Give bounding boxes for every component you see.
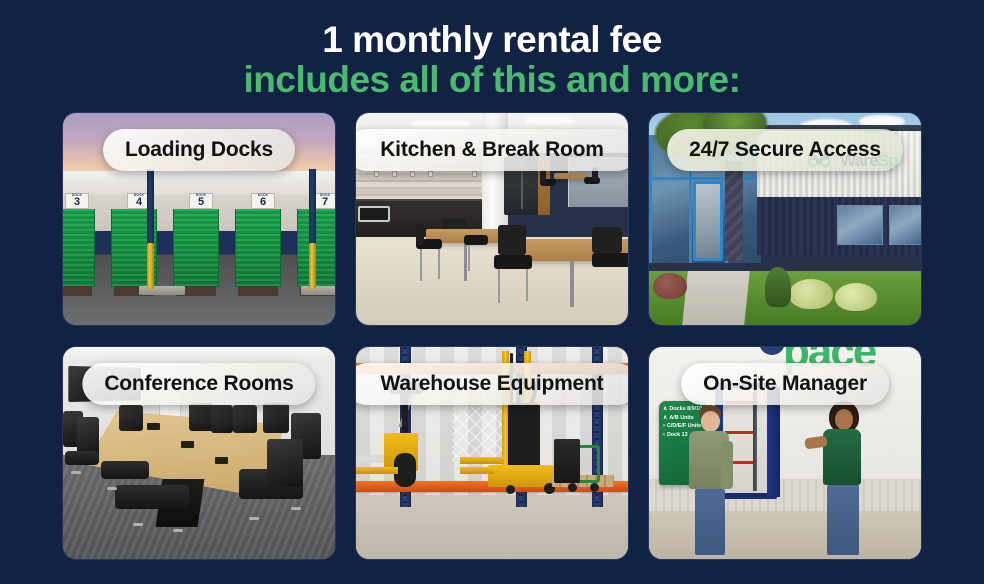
- wall-outlet: [472, 171, 477, 177]
- curb: [301, 286, 335, 295]
- chair-seat: [115, 485, 189, 509]
- wall-outlet: [374, 171, 379, 177]
- chair-leg: [526, 269, 528, 301]
- wayfinding-arrow: ∧: [663, 415, 667, 421]
- dock-door: [235, 209, 281, 287]
- card-label-kitchen-break-room[interactable]: Kitchen & Break Room: [355, 129, 629, 171]
- hydrangea: [835, 283, 877, 311]
- card-label-conference-rooms[interactable]: Conference Rooms: [82, 363, 315, 405]
- card-label-secure-access[interactable]: 24/7 Secure Access: [667, 129, 903, 171]
- table-leg: [570, 261, 574, 307]
- head: [835, 409, 853, 430]
- person-on-site-manager: [817, 403, 871, 555]
- dock-sign-number: 5: [198, 197, 204, 208]
- wayfinding-arrow: ∧: [663, 406, 667, 412]
- page-headline: 1 monthly rental fee includes all of thi…: [0, 0, 984, 100]
- table-power-port: [147, 423, 160, 430]
- chair-leg: [438, 249, 440, 279]
- chair-leg: [498, 269, 500, 303]
- conference-chair: [263, 403, 289, 433]
- conference-chair: [211, 405, 233, 433]
- interior-rack-upright: [753, 391, 757, 491]
- chair-leg: [468, 245, 470, 271]
- stacker-outrigger: [460, 457, 504, 464]
- conference-chair: [233, 405, 257, 433]
- chair-caster: [173, 529, 183, 532]
- chair-caster: [71, 471, 81, 474]
- amenity-card-secure-access[interactable]: Ware Sp 24/7 Secure Access: [648, 112, 922, 326]
- table-power-port: [215, 457, 228, 464]
- person-tenant: [687, 405, 739, 555]
- stacker-wheel: [506, 485, 515, 494]
- hydrangea: [789, 279, 833, 309]
- ceiling-light: [412, 121, 470, 126]
- stacker-load-backrest: [508, 403, 540, 469]
- dock-number-sign: DOCK 7: [313, 193, 335, 209]
- dock-number-sign: DOCK 5: [189, 193, 213, 209]
- pallet-jack-fork: [356, 467, 398, 474]
- facade-window: [889, 205, 921, 245]
- chair-back: [540, 169, 546, 183]
- waste-bin: [554, 439, 580, 483]
- conference-chair: [189, 403, 213, 431]
- window-mullion: [649, 177, 761, 180]
- warehouse-floor: [356, 495, 628, 559]
- dock-sign-number: 6: [260, 197, 266, 208]
- wayfinding-text: Dock 13: [667, 432, 688, 438]
- headline-line-1: 1 monthly rental fee: [0, 20, 984, 60]
- table-power-port: [181, 441, 194, 448]
- chair-seat: [65, 451, 99, 465]
- cart-wheel: [590, 483, 599, 492]
- card-label-loading-docks[interactable]: Loading Docks: [103, 129, 295, 171]
- chair-back: [416, 223, 424, 245]
- head: [701, 411, 720, 432]
- wayfinding-arrow: ‹: [663, 432, 665, 438]
- evergreen-shrub: [765, 267, 791, 307]
- dock-sign-number: 3: [74, 197, 80, 208]
- dock-sign-number: 7: [322, 197, 328, 208]
- amenity-card-kitchen-break-room[interactable]: Kitchen & Break Room: [355, 112, 629, 326]
- card-label-warehouse-equipment[interactable]: Warehouse Equipment: [355, 363, 629, 405]
- amenity-card-on-site-manager[interactable]: pace ∧ Docks 8/9/10 ∧ A/B Units › C/D/E/…: [648, 346, 922, 560]
- chair-caster: [291, 507, 301, 510]
- walkway: [682, 271, 750, 325]
- chair-caster: [133, 523, 143, 526]
- dock-sign-number: 4: [136, 197, 142, 208]
- bollard: [147, 243, 154, 289]
- chair-caster: [107, 487, 117, 490]
- chair-seat: [592, 253, 628, 267]
- stacker-outrigger: [460, 467, 494, 474]
- card-label-on-site-manager[interactable]: On-Site Manager: [681, 363, 889, 405]
- dock-number-sign: DOCK 6: [251, 193, 275, 209]
- bollard: [309, 243, 316, 289]
- chair-back: [592, 227, 622, 253]
- headline-line-2: includes all of this and more:: [0, 60, 984, 100]
- entry-door[interactable]: [693, 181, 723, 261]
- cart-wheel: [568, 483, 577, 492]
- pallet-jack-stripe: [356, 455, 384, 463]
- wall-outlet: [428, 171, 433, 177]
- stone-pier: [725, 161, 743, 261]
- amenity-card-conference-rooms[interactable]: Conference Rooms: [62, 346, 336, 560]
- chair-leg: [420, 249, 422, 281]
- legs: [695, 489, 725, 555]
- conference-chair: [119, 405, 143, 431]
- chair-seat: [464, 235, 488, 245]
- amenity-card-warehouse-equipment[interactable]: Warehouse Equipment: [355, 346, 629, 560]
- chair-back: [498, 225, 526, 255]
- wall-outlet: [410, 171, 415, 177]
- chair-back: [442, 219, 466, 228]
- wall-outlet: [392, 171, 397, 177]
- dock-number-sign: DOCK 3: [65, 193, 89, 209]
- arm: [721, 441, 733, 489]
- staff-polo: [823, 429, 861, 485]
- chair-seat: [101, 461, 149, 479]
- curb: [139, 286, 185, 295]
- microwave: [358, 206, 390, 222]
- break-table: [554, 173, 588, 179]
- ceiling-light: [526, 118, 572, 123]
- amenity-card-loading-docks[interactable]: DOCK 3 DOCK 4 DOCK 5 DOCK 6 DOCK 7: [62, 112, 336, 326]
- dock-door: [63, 209, 95, 287]
- shrub: [653, 273, 687, 299]
- dock-door: [173, 209, 219, 287]
- conference-chair: [267, 439, 303, 487]
- table-leg: [464, 243, 467, 281]
- legs: [827, 485, 859, 555]
- amenity-card-grid: DOCK 3 DOCK 4 DOCK 5 DOCK 6 DOCK 7: [62, 112, 922, 560]
- facade-window: [837, 205, 883, 245]
- chair-seat: [494, 255, 532, 269]
- window-mullion: [649, 135, 652, 263]
- dock-door: [297, 209, 335, 287]
- ceiling: [63, 347, 335, 363]
- chair-caster: [249, 517, 259, 520]
- wayfinding-arrow: ›: [663, 423, 665, 429]
